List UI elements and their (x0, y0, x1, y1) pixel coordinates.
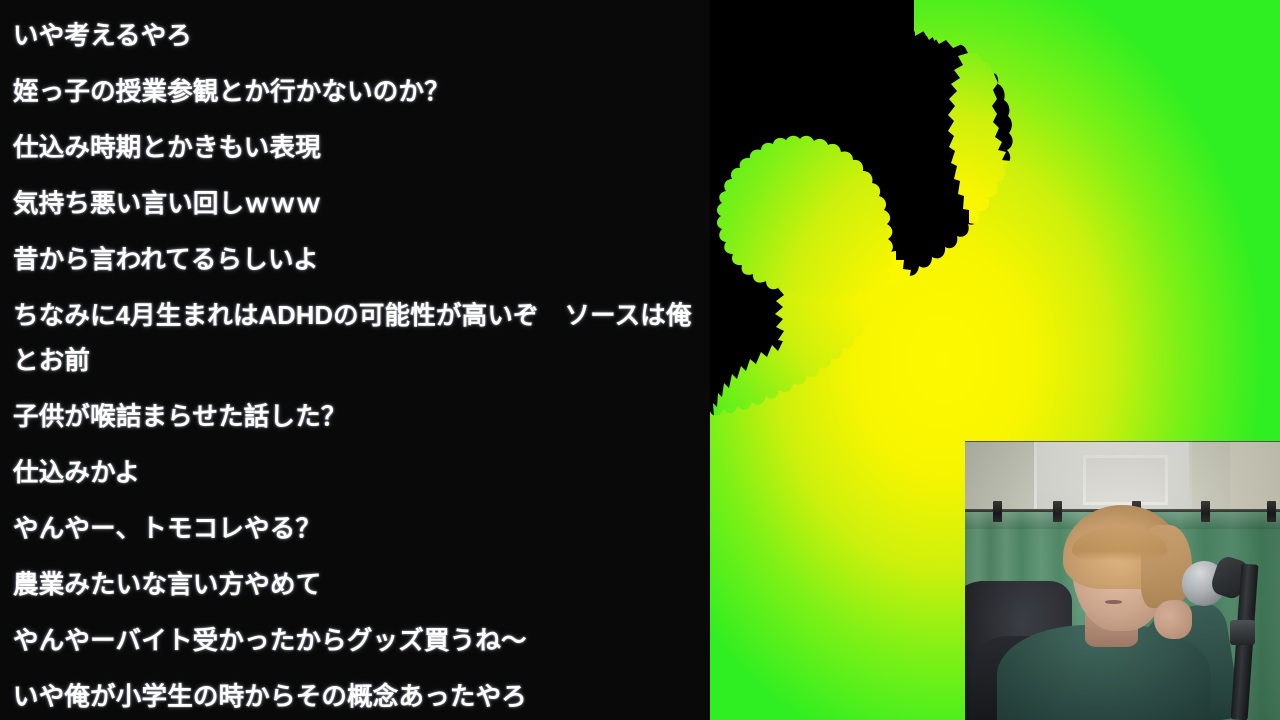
comment-item: やんやーバイト受かったからグッズ買うね〜 (0, 619, 710, 664)
comment-item: 仕込みかよ (0, 451, 710, 496)
comment-item: 子供が喉詰まらせた話した？ (0, 395, 710, 440)
comment-item: 仕込み時期とかきもい表現 (0, 126, 710, 171)
comment-item: 気持ち悪い言い回しｗｗｗ (0, 182, 710, 227)
video-pane (710, 0, 1280, 720)
comment-list: いや考えるやろ 姪っ子の授業参観とか行かないのか？ 仕込み時期とかきもい表現 気… (0, 14, 710, 720)
webcam-inset[interactable] (965, 441, 1280, 720)
comment-feed-pane: いや考えるやろ 姪っ子の授業参観とか行かないのか？ 仕込み時期とかきもい表現 気… (0, 0, 710, 720)
stream-screen: いや考えるやろ 姪っ子の授業参観とか行かないのか？ 仕込み時期とかきもい表現 気… (0, 0, 1280, 720)
comment-item: 昔から言われてるらしいよ (0, 238, 710, 283)
comment-item: 姪っ子の授業参観とか行かないのか？ (0, 70, 710, 115)
comment-item: 農業みたいな言い方やめて (0, 563, 710, 608)
webcam-border (965, 441, 1280, 720)
comment-item: ちなみに4月生まれはADHDの可能性が高いぞ ソースは俺とお前 (0, 294, 710, 384)
comment-item: いや考えるやろ (0, 14, 710, 59)
comment-item: いや俺が小学生の時からその概念あったやろ (0, 675, 710, 720)
comment-item: やんやー、トモコレやる？ (0, 507, 710, 552)
